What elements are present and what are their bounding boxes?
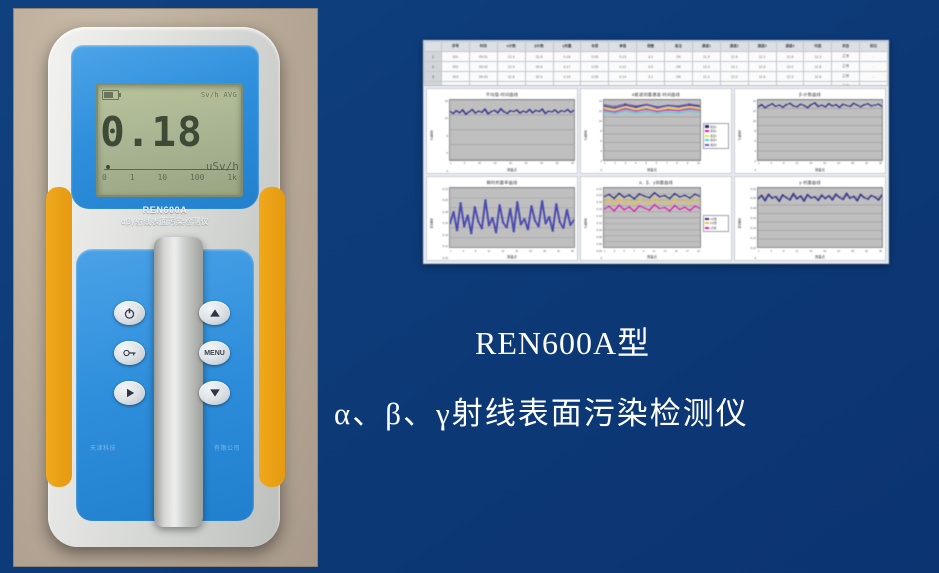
spreadsheet-cell: 0.05 xyxy=(581,52,609,62)
chart-x-tick: 35 xyxy=(556,162,559,165)
chart-x-tick: 24 xyxy=(529,250,532,253)
chart-y-tick: 0.10 xyxy=(743,246,756,250)
chart-y-tick: 0.12 xyxy=(589,221,602,225)
spreadsheet-cell: 12.6 xyxy=(720,52,748,62)
software-screenshot-panel: 序号时间α计数β计数γ剂量本底净值误差备注通道1通道2通道3通道4均值状态标记1… xyxy=(423,40,889,264)
chart-x-tick: 11 xyxy=(653,250,656,253)
chart-y-tick: 10 xyxy=(743,119,756,123)
chart-y-ticks: 0.220.200.180.160.140.120.10 xyxy=(435,187,449,261)
chart-y-tick: 0.22 xyxy=(589,187,602,191)
chart-legend-swatch xyxy=(705,218,709,220)
chart-legend-swatch xyxy=(705,139,709,141)
spreadsheet-cell: 11.9 xyxy=(692,52,720,62)
chart-x-tick: 36 xyxy=(879,162,882,165)
triangle-up-icon xyxy=(209,308,221,318)
chart-legend: 通道1通道2通道3通道4通道5 xyxy=(703,123,729,149)
chart-legend-swatch xyxy=(705,227,709,229)
spreadsheet-cell: 13.0 xyxy=(776,62,804,72)
spreadsheet-cell: 001 xyxy=(442,52,470,62)
chart-x-tick: 4 xyxy=(635,162,636,165)
chart-y-axis-label: 计数率 xyxy=(428,99,435,173)
chart-y-tick: 0.20 xyxy=(743,196,756,200)
chart-plot-area xyxy=(757,187,883,249)
chart-series-line xyxy=(604,111,700,114)
chart-y-tick: 14 xyxy=(743,99,756,103)
chart-y-ticks: 14121086420 xyxy=(743,99,757,173)
device-footnote-right: 有限公司 xyxy=(214,443,240,452)
key-icon xyxy=(123,347,137,359)
chart-legend-item: 通道4 xyxy=(705,138,727,142)
chart-x-tick: 4 xyxy=(462,250,463,253)
chart-x-tick: 19 xyxy=(697,250,700,253)
chart-x-tick: 28 xyxy=(851,162,854,165)
chart-plot-area xyxy=(449,187,575,249)
spreadsheet-cell: 002 xyxy=(442,62,470,72)
chart-x-axis-label: 测量点 xyxy=(449,167,575,173)
spreadsheet-header-cell: 通道2 xyxy=(720,42,748,52)
chart-y-tick: 12 xyxy=(435,116,448,120)
device-subtitle-label: αβγ射线表面污染检测仪 xyxy=(71,216,259,227)
lcd-status-text: Sv/h AVG xyxy=(201,91,237,99)
spreadsheet-cell: 3.1 xyxy=(637,72,665,82)
chart-x-tick: 4 xyxy=(770,250,771,253)
spreadsheet-header-cell xyxy=(425,42,442,52)
chart-y-tick: 0 xyxy=(589,256,602,260)
chart-legend-item: γ剂量 xyxy=(705,226,727,230)
chart-x-tick: 1 xyxy=(604,250,605,253)
product-photo: Sv/h AVG 0.18 uSv/h 0 1 10 100 1k REN600… xyxy=(13,8,318,567)
spreadsheet-cell: 12.0 xyxy=(720,72,748,82)
chart-y-tick: 8 xyxy=(435,134,448,138)
chart-y-axis-label: 剂量率 xyxy=(428,187,435,261)
chart-x-axis-label: 测量点 xyxy=(757,167,883,173)
spreadsheet-cell: 11.8 xyxy=(804,72,832,82)
spreadsheet-cell: - xyxy=(860,52,888,62)
spreadsheet-header-cell: α计数 xyxy=(497,42,525,52)
chart-title: 平均值-时间曲线 xyxy=(427,89,577,98)
spreadsheet-cell: 2 xyxy=(425,62,442,72)
spreadsheet-cell: 0.14 xyxy=(609,72,637,82)
chart-x-tick: 28 xyxy=(543,250,546,253)
chart-y-axis-label: 计数率 xyxy=(582,99,589,173)
chart-x-axis-label: 测量点 xyxy=(603,254,701,260)
chart-x-tick: 3 xyxy=(625,162,626,165)
chart-y-tick: 6 xyxy=(589,139,602,143)
spreadsheet-cell: 31.6 xyxy=(525,52,553,62)
chart-y-axis-label: 剂量率 xyxy=(736,187,743,261)
spreadsheet-cell: 0.13 xyxy=(609,52,637,62)
spreadsheet-cell: 11.2 xyxy=(692,72,720,82)
spreadsheet-header-cell: β计数 xyxy=(525,42,553,52)
spreadsheet-cell: OK xyxy=(665,72,693,82)
chart-cell: 平均值-时间曲线计数率16128401510152025303540测量点 xyxy=(426,88,578,174)
chart-plot-area xyxy=(757,99,883,161)
chart-y-tick: 6 xyxy=(743,139,756,143)
chart-x-tick: 1 xyxy=(758,250,759,253)
spreadsheet-cell: OK xyxy=(665,52,693,62)
chart-x-tick: 30 xyxy=(540,162,543,165)
spreadsheet-header-cell: γ剂量 xyxy=(553,42,581,52)
chart-x-axis-label: 测量点 xyxy=(603,167,701,173)
spreadsheet-cell: 3 xyxy=(425,72,442,82)
chart-plot-area xyxy=(603,187,701,249)
spreadsheet-row: 200209:0212.930.80.170.050.123.5OK12.413… xyxy=(425,62,888,72)
chart-plot-area xyxy=(449,99,575,161)
poster-canvas: Sv/h AVG 0.18 uSv/h 0 1 10 100 1k REN600… xyxy=(0,0,939,573)
chart-y-tick: 0.14 xyxy=(743,226,756,230)
chart-y-tick: 4 xyxy=(435,151,448,155)
lcd-reading: 0.18 uSv/h xyxy=(98,103,241,161)
chart-legend-label: α计数 xyxy=(710,217,717,221)
spreadsheet-cell: 3.5 xyxy=(637,62,665,72)
spreadsheet-cell: 3.2 xyxy=(637,52,665,62)
chart-legend-label: β计数 xyxy=(710,221,717,225)
chart-x-tick: 20 xyxy=(509,162,512,165)
spreadsheet-cell: 12.3 xyxy=(776,72,804,82)
chart-legend-item: 通道1 xyxy=(705,125,727,129)
spreadsheet-cell: 09:01 xyxy=(469,52,497,62)
chart-x-tick: 1 xyxy=(604,162,605,165)
chart-y-tick: 10 xyxy=(589,119,602,123)
chart-series-line xyxy=(758,103,882,108)
device-footnote-left: 天津科技 xyxy=(90,443,116,452)
battery-icon xyxy=(102,90,119,100)
chart-y-tick: 0.12 xyxy=(743,236,756,240)
spreadsheet-cell: 003 xyxy=(442,72,470,82)
chart-y-tick: 14 xyxy=(589,99,602,103)
spreadsheet-cell: 0.19 xyxy=(553,72,581,82)
lcd-bargraph xyxy=(104,163,235,170)
chart-y-tick: 0.10 xyxy=(435,256,448,260)
spreadsheet-cell: 11.8 xyxy=(497,72,525,82)
chart-y-tick: 0.22 xyxy=(743,187,756,191)
chart-y-tick: 0.20 xyxy=(435,198,448,202)
chart-x-tick: 2 xyxy=(614,162,615,165)
spreadsheet-cell: 12.4 xyxy=(497,52,525,62)
chart-x-tick: 1 xyxy=(450,162,451,165)
chart-y-axis-label: 计数率 xyxy=(582,187,589,261)
lcd-status-row: Sv/h AVG xyxy=(102,88,237,102)
chart-x-tick: 32 xyxy=(865,250,868,253)
chart-series-line xyxy=(450,199,574,233)
chart-x-axis-label: 测量点 xyxy=(757,254,883,260)
lcd-scale-tick: 10 xyxy=(157,173,167,187)
chart-legend-item: 通道2 xyxy=(705,129,727,133)
spreadsheet-cell: - xyxy=(860,72,888,82)
down-button[interactable] xyxy=(199,381,230,405)
chart-y-tick: 0.16 xyxy=(589,207,602,211)
caption-model: REN600A型 xyxy=(330,318,930,364)
spreadsheet-header-cell: 通道4 xyxy=(776,42,804,52)
spreadsheet-header-cell: 通道1 xyxy=(692,42,720,52)
data-spreadsheet: 序号时间α计数β计数γ剂量本底净值误差备注通道1通道2通道3通道4均值状态标记1… xyxy=(424,41,888,86)
spreadsheet-cell: 30.8 xyxy=(525,62,553,72)
chart-legend-label: γ剂量 xyxy=(710,226,716,230)
menu-button[interactable]: MENU xyxy=(199,341,230,365)
chart-title: α、β、γ测量曲线 xyxy=(581,177,731,186)
chart-legend-label: 通道1 xyxy=(710,125,717,129)
lcd-value: 0.18 xyxy=(100,112,203,153)
device-model-label: REN600A xyxy=(71,205,259,215)
chart-x-tick: 25 xyxy=(525,162,528,165)
chart-x-tick: 1 xyxy=(450,250,451,253)
chart-y-tick: 0.18 xyxy=(589,200,602,204)
key-button[interactable] xyxy=(114,341,145,365)
menu-button-label: MENU xyxy=(204,350,225,357)
lcd-scale: 0 1 10 100 1k xyxy=(102,173,237,187)
chart-y-tick: 0 xyxy=(743,256,756,260)
chart-y-tick: 8 xyxy=(589,129,602,133)
chart-y-ticks: 1612840 xyxy=(435,99,449,173)
spreadsheet-header-cell: 通道3 xyxy=(748,42,776,52)
spreadsheet-header-cell: 标记 xyxy=(860,42,888,52)
chart-x-tick: 12 xyxy=(487,250,490,253)
chart-x-tick: 20 xyxy=(823,250,826,253)
device-lcd-screen: Sv/h AVG 0.18 uSv/h 0 1 10 100 1k xyxy=(96,83,243,197)
chart-y-ticks: 0.220.200.180.160.140.120.100 xyxy=(743,187,757,261)
chart-x-tick: 5 xyxy=(464,162,465,165)
chart-x-tick: 13 xyxy=(664,250,667,253)
chart-x-tick: 5 xyxy=(623,250,624,253)
chart-y-tick: 12 xyxy=(589,109,602,113)
chart-x-tick: 9 xyxy=(643,250,644,253)
spreadsheet-header-cell: 序号 xyxy=(442,42,470,52)
chart-y-ticks: 0.220.200.180.160.140.120.100.080.060.04… xyxy=(589,187,603,261)
spreadsheet-cell: 正常 xyxy=(832,72,860,82)
spreadsheet-header-cell: 备注 xyxy=(665,42,693,52)
chart-legend-label: 通道3 xyxy=(710,134,717,138)
spreadsheet-cell: 11.6 xyxy=(748,72,776,82)
chart-y-tick: 0.10 xyxy=(589,228,602,232)
chart-x-tick: 1 xyxy=(758,162,759,165)
chart-x-tick: 20 xyxy=(823,162,826,165)
chart-x-tick: 16 xyxy=(809,162,812,165)
chart-x-tick: 36 xyxy=(571,250,574,253)
spreadsheet-row: 300309:0311.832.40.190.050.143.1OK11.212… xyxy=(425,72,888,82)
chart-y-tick: 4 xyxy=(589,149,602,153)
up-button[interactable] xyxy=(199,301,230,325)
chart-x-tick: 20 xyxy=(515,250,518,253)
lcd-scale-tick: 1k xyxy=(227,173,237,187)
chart-cell: α能谱测量通道-时间曲线计数率1412108642012345678910测量点… xyxy=(580,88,732,174)
chart-legend-label: 通道5 xyxy=(710,143,717,147)
spreadsheet-header-cell: 时间 xyxy=(469,42,497,52)
chart-legend-swatch xyxy=(705,130,709,132)
chart-y-tick: 0.22 xyxy=(435,187,448,191)
chart-y-tick: 8 xyxy=(743,129,756,133)
chart-y-tick: 0 xyxy=(743,168,756,172)
chart-y-tick: 0.04 xyxy=(589,249,602,253)
chart-legend-label: 通道4 xyxy=(710,138,717,142)
chart-x-tick: 16 xyxy=(809,250,812,253)
power-icon xyxy=(123,307,136,320)
chart-y-tick: 0.14 xyxy=(435,233,448,237)
chart-y-tick: 12 xyxy=(743,109,756,113)
caption-description: α、β、γ射线表面污染检测仪 xyxy=(330,388,930,433)
chart-y-ticks: 14121086420 xyxy=(589,99,603,173)
chart-legend-item: 通道5 xyxy=(705,143,727,147)
chart-legend-swatch xyxy=(705,144,709,146)
spreadsheet-header-cell: 本底 xyxy=(581,42,609,52)
spreadsheet-cell: 0.17 xyxy=(553,62,581,72)
spreadsheet-cell: 12.1 xyxy=(748,52,776,62)
chart-x-axis-label: 测量点 xyxy=(449,254,575,260)
chart-x-tick: 12 xyxy=(795,162,798,165)
spreadsheet-header-cell: 状态 xyxy=(832,42,860,52)
chart-y-tick: 0.08 xyxy=(589,235,602,239)
lcd-scale-tick: 0 xyxy=(102,173,107,187)
chart-x-tick: 10 xyxy=(697,162,700,165)
spreadsheet-cell: 09:02 xyxy=(469,62,497,72)
chart-y-tick: 0.16 xyxy=(743,216,756,220)
spreadsheet-cell: 0.12 xyxy=(609,62,637,72)
spreadsheet-header-row: 序号时间α计数β计数γ剂量本底净值误差备注通道1通道2通道3通道4均值状态标记 xyxy=(425,42,888,52)
chart-title: 瞬时剂量率曲线 xyxy=(427,177,577,186)
chart-x-tick: 8 xyxy=(475,250,476,253)
chart-y-tick: 0.14 xyxy=(589,214,602,218)
spreadsheet-cell: 0.05 xyxy=(581,62,609,72)
spreadsheet-cell: 正常 xyxy=(832,52,860,62)
hand-strap xyxy=(154,237,203,527)
chart-title: β-计数曲线 xyxy=(735,89,885,98)
spreadsheet-row: 100109:0112.431.60.180.050.133.2OK11.912… xyxy=(425,52,888,62)
play-button[interactable] xyxy=(114,381,145,405)
spreadsheet-cell: 12.9 xyxy=(497,62,525,72)
chart-y-axis-label: 计数率 xyxy=(736,99,743,173)
spreadsheet-cell: 0.05 xyxy=(581,72,609,82)
chart-cell: 瞬时剂量率曲线剂量率0.220.200.180.160.140.120.1014… xyxy=(426,176,578,262)
spreadsheet-table: 序号时间α计数β计数γ剂量本底净值误差备注通道1通道2通道3通道4均值状态标记1… xyxy=(424,41,888,86)
play-icon xyxy=(124,387,136,399)
spreadsheet-cell: OK xyxy=(665,62,693,72)
chart-cell: γ-剂量曲线剂量率0.220.200.180.160.140.120.10014… xyxy=(734,176,886,262)
spreadsheet-cell: 12.6 xyxy=(748,62,776,72)
chart-x-tick: 8 xyxy=(676,162,677,165)
spreadsheet-cell: 0.18 xyxy=(553,52,581,62)
spreadsheet-header-cell: 误差 xyxy=(637,42,665,52)
chart-legend-item: α计数 xyxy=(705,217,727,221)
chart-x-tick: 8 xyxy=(783,162,784,165)
chart-x-tick: 7 xyxy=(633,250,634,253)
chart-x-tick: 10 xyxy=(478,162,481,165)
chart-x-tick: 3 xyxy=(614,250,615,253)
chart-legend-swatch xyxy=(705,135,709,137)
spreadsheet-cell: 12.3 xyxy=(804,52,832,62)
spreadsheet-cell: 12.4 xyxy=(692,62,720,72)
spreadsheet-cell: 09:03 xyxy=(469,72,497,82)
chart-x-tick: 9 xyxy=(687,162,688,165)
chart-y-tick: 2 xyxy=(743,159,756,163)
chart-x-tick: 17 xyxy=(686,250,689,253)
spreadsheet-cell: 13.1 xyxy=(720,62,748,72)
lcd-scale-tick: 1 xyxy=(130,173,135,187)
chart-x-tick: 40 xyxy=(571,162,574,165)
chart-legend-swatch xyxy=(705,125,709,127)
chart-x-tick: 16 xyxy=(501,250,504,253)
chart-plot-area xyxy=(603,99,701,161)
caption-block: REN600A型 α、β、γ射线表面污染检测仪 xyxy=(330,318,930,433)
chart-x-tick: 24 xyxy=(837,162,840,165)
triangle-down-icon xyxy=(209,388,221,398)
chart-legend-label: 通道2 xyxy=(710,129,717,133)
chart-y-tick: 0.18 xyxy=(743,206,756,210)
chart-y-tick: 0 xyxy=(435,169,448,173)
chart-x-tick: 7 xyxy=(666,162,667,165)
chart-title: α能谱测量通道-时间曲线 xyxy=(581,89,731,98)
spreadsheet-cell: 32.4 xyxy=(525,72,553,82)
chart-x-tick: 24 xyxy=(837,250,840,253)
spreadsheet-cell: 1 xyxy=(425,52,442,62)
chart-y-tick: 0.20 xyxy=(589,193,602,197)
spreadsheet-cell: - xyxy=(860,62,888,72)
chart-legend-swatch xyxy=(705,222,709,224)
chart-cell: α、β、γ测量曲线计数率0.220.200.180.160.140.120.10… xyxy=(580,176,732,262)
chart-y-tick: 0 xyxy=(589,168,602,172)
device-grip-right xyxy=(259,187,285,487)
spreadsheet-header-cell: 净值 xyxy=(609,42,637,52)
chart-legend: α计数β计数γ剂量 xyxy=(703,215,729,232)
chart-y-tick: 4 xyxy=(743,149,756,153)
chart-x-tick: 36 xyxy=(879,250,882,253)
charts-grid: 平均值-时间曲线计数率16128401510152025303540测量点α能谱… xyxy=(424,86,888,263)
chart-legend-item: β计数 xyxy=(705,221,727,225)
chart-x-tick: 32 xyxy=(557,250,560,253)
device-grip-left xyxy=(46,187,72,487)
chart-title: γ-剂量曲线 xyxy=(735,177,885,186)
chart-x-tick: 6 xyxy=(656,162,657,165)
chart-y-tick: 0.06 xyxy=(589,242,602,246)
chart-cell: β-计数曲线计数率1412108642014812162024283236测量点 xyxy=(734,88,886,174)
chart-x-tick: 15 xyxy=(494,162,497,165)
chart-legend-item: 通道3 xyxy=(705,134,727,138)
lcd-scale-tick: 100 xyxy=(190,173,204,187)
chart-x-tick: 28 xyxy=(851,250,854,253)
chart-y-tick: 16 xyxy=(435,99,448,103)
chart-x-tick: 15 xyxy=(675,250,678,253)
chart-y-tick: 2 xyxy=(589,159,602,163)
chart-y-tick: 0.12 xyxy=(435,244,448,248)
chart-x-tick: 12 xyxy=(795,250,798,253)
spreadsheet-cell: 12.8 xyxy=(776,52,804,62)
power-button[interactable] xyxy=(114,301,145,325)
chart-x-tick: 4 xyxy=(770,162,771,165)
chart-x-tick: 8 xyxy=(783,250,784,253)
chart-y-tick: 0.16 xyxy=(435,221,448,225)
chart-x-tick: 5 xyxy=(645,162,646,165)
chart-y-tick: 0.18 xyxy=(435,210,448,214)
device-branding: REN600A αβγ射线表面污染检测仪 xyxy=(71,205,259,227)
chart-x-tick: 32 xyxy=(865,162,868,165)
spreadsheet-header-cell: 均值 xyxy=(804,42,832,52)
spreadsheet-cell: 12.8 xyxy=(804,62,832,72)
spreadsheet-cell: 正常 xyxy=(832,62,860,72)
